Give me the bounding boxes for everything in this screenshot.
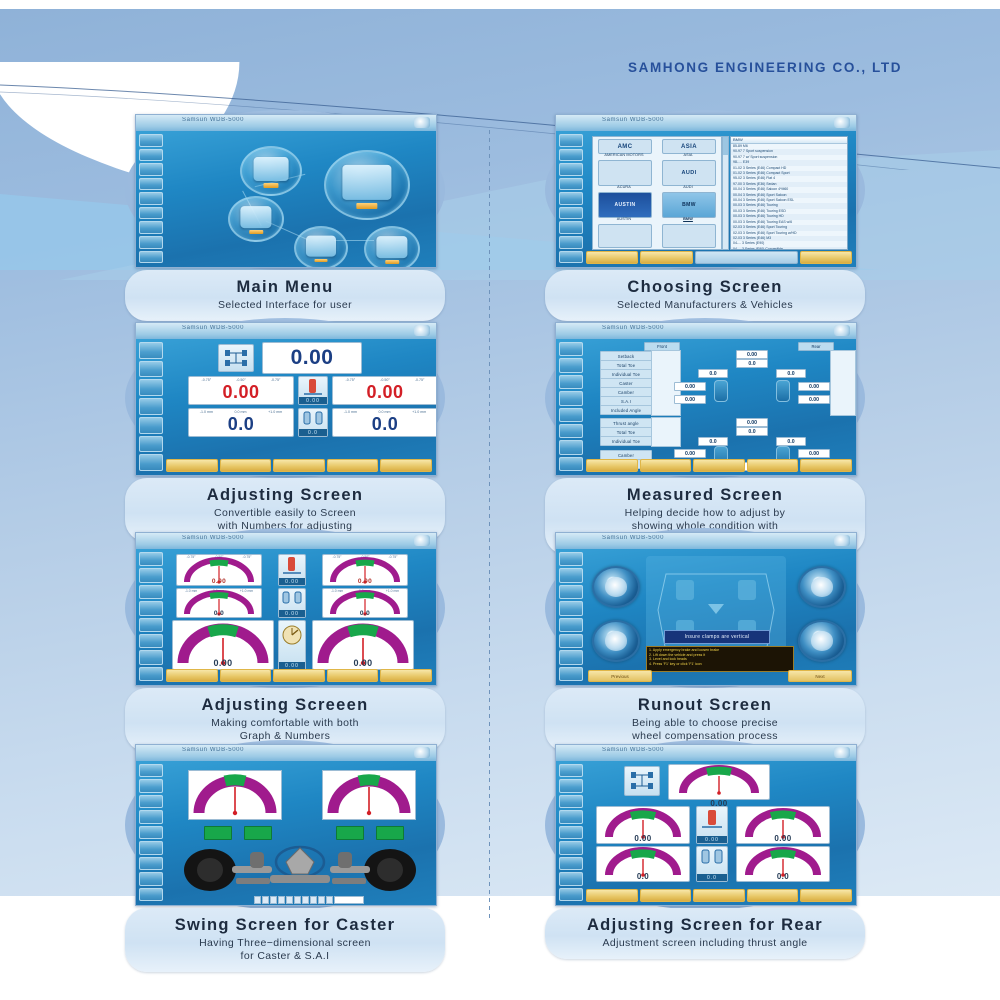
gauge-rear-camber-right: 0.00 bbox=[736, 806, 830, 844]
bottom-toolbar[interactable] bbox=[586, 889, 852, 902]
gauge-thrust-top: 0.00 bbox=[668, 764, 770, 800]
sidebar-button[interactable] bbox=[139, 634, 163, 648]
window-titlebar: Samsun WDB-5000 bbox=[556, 533, 856, 549]
center-value: 0.00 bbox=[299, 397, 327, 404]
camber-icon-tile: 0.00 bbox=[298, 376, 328, 405]
screenshot-main-menu[interactable]: Samsun WDB-5000 bbox=[135, 114, 437, 268]
panel-grid: Samsun WDB-5000 bbox=[0, 0, 1000, 1000]
sidebar-button[interactable] bbox=[139, 667, 163, 681]
caption-subtitle: Selected Manufacturers & Vehicles bbox=[551, 299, 859, 312]
manufacturer-tile-acura[interactable] bbox=[598, 160, 652, 186]
window-title: Samsun WDB-5000 bbox=[602, 747, 664, 753]
status-chip bbox=[336, 826, 364, 840]
caption-subtitle: Adjustment screen including thrust angle bbox=[551, 937, 859, 950]
next-button[interactable]: Next bbox=[788, 670, 852, 682]
center-value: 0.00 bbox=[279, 578, 305, 585]
caption-subtitle: Having Three−dimensional screen for Cast… bbox=[131, 937, 439, 963]
screenshot-runout-screen[interactable]: Samsun WDB-5000 bbox=[555, 532, 857, 686]
sidebar-button[interactable] bbox=[139, 361, 163, 378]
sidebar-toolstrip[interactable] bbox=[139, 764, 163, 901]
value-toe-left: -1.0 mm0.0 mm+1.0 mm 0.0 bbox=[188, 408, 294, 437]
toolbar-button[interactable] bbox=[640, 459, 692, 472]
sidebar-button[interactable] bbox=[559, 826, 583, 839]
bubble-tag-icon bbox=[263, 183, 278, 187]
gauge-arc bbox=[323, 771, 415, 819]
gauge-value: 0.00 bbox=[597, 834, 689, 843]
sidebar-button[interactable] bbox=[139, 221, 163, 234]
toolbar-button[interactable] bbox=[800, 889, 852, 902]
caption-choosing-screen: Choosing Screen Selected Manufacturers &… bbox=[545, 270, 865, 321]
sidebar-button[interactable] bbox=[139, 779, 163, 792]
camber-icon-tile: 0.00 bbox=[696, 806, 728, 844]
tab-rear[interactable]: Rear bbox=[798, 342, 834, 351]
manufacturer-tile-next-a[interactable] bbox=[598, 224, 652, 248]
sidebar-button[interactable] bbox=[559, 207, 583, 220]
screenshot-measured-screen[interactable]: Samsun WDB-5000 Front Rear S bbox=[555, 322, 857, 476]
sidebar-button[interactable] bbox=[139, 436, 163, 453]
gauge-toe-right: -1.0 mm0.0 mm+1.0 mm 0.0 bbox=[322, 588, 408, 618]
sidebar-toolstrip[interactable] bbox=[139, 342, 163, 471]
sidebar-button[interactable] bbox=[139, 207, 163, 220]
manufacturer-tile-bmw[interactable]: BMW bbox=[662, 192, 716, 218]
progress-segments bbox=[254, 896, 364, 904]
window-title: Samsun WDB-5000 bbox=[602, 117, 664, 123]
menu-bubble-vehicle-icon[interactable] bbox=[324, 150, 410, 220]
gauge-caster-right: 0.00 bbox=[312, 620, 414, 670]
value-front-toe-left: 0.0 bbox=[698, 369, 728, 378]
toolbar-button[interactable] bbox=[800, 459, 852, 472]
right-value-column bbox=[830, 350, 856, 416]
screenshot-adjusting-rear[interactable]: Samsun WDB-5000 bbox=[555, 744, 857, 906]
gauge-caster-left: 0.00 bbox=[172, 620, 274, 670]
value-camber-right: -0.75°-0.50°-0.75° 0.00 bbox=[332, 376, 437, 405]
gauge-value: 0.0 bbox=[323, 610, 407, 617]
toolbar-button[interactable] bbox=[380, 669, 432, 682]
gauge-value: 0.00 bbox=[313, 658, 413, 668]
sidebar-button[interactable] bbox=[559, 149, 583, 162]
caption-title: Choosing Screen bbox=[551, 277, 859, 297]
sidebar-button[interactable] bbox=[139, 888, 163, 901]
tick-labels: -1.0 mm0.0 mm+1.0 mm bbox=[189, 410, 293, 414]
sidebar-button[interactable] bbox=[139, 857, 163, 870]
sidebar-button[interactable] bbox=[559, 424, 583, 438]
sidebar-button[interactable] bbox=[559, 650, 583, 664]
screenshot-choosing-screen[interactable]: Samsun WDB-5000 bbox=[555, 114, 857, 268]
manufacturer-tile-austin[interactable]: AUSTIN bbox=[598, 192, 652, 218]
sidebar-button[interactable] bbox=[139, 163, 163, 176]
caption-title: Measured Screen bbox=[551, 485, 859, 505]
graph-canvas: -0.75°-0.50°-0.75° 0.00 bbox=[166, 552, 432, 667]
manufacturer-logo-text: AUDI bbox=[681, 170, 696, 176]
toolbar-button[interactable] bbox=[693, 459, 745, 472]
value-text: 0.0 bbox=[228, 414, 255, 435]
rear-value-column bbox=[651, 417, 681, 447]
vehicle-list-item[interactable]: 04-... 3 Series (E90) Convertible bbox=[731, 247, 847, 250]
adjust-canvas: 0.00 -0.75°-0.50°-0.75° 0.00 0.00 bbox=[166, 342, 432, 457]
label-rear-individual-toe: Individual Toe bbox=[600, 436, 652, 446]
center-value: 0.0 bbox=[697, 874, 727, 881]
sidebar-button[interactable] bbox=[559, 251, 583, 264]
window-titlebar: Samsun WDB-5000 bbox=[136, 745, 436, 761]
menu-bubble-alignment-icon[interactable] bbox=[240, 146, 302, 196]
toe-icon-tile: 0.00 bbox=[278, 588, 306, 618]
window-title: Samsun WDB-5000 bbox=[182, 535, 244, 541]
sidebar-button[interactable] bbox=[139, 585, 163, 599]
menu-bubble-report-icon[interactable] bbox=[364, 226, 420, 268]
sidebar-button[interactable] bbox=[559, 779, 583, 792]
screenshot-swing-screen[interactable]: Samsun WDB-5000 bbox=[135, 744, 437, 906]
sidebar-button[interactable] bbox=[559, 795, 583, 808]
sidebar-button[interactable] bbox=[559, 810, 583, 823]
window-title: Samsun WDB-5000 bbox=[182, 325, 244, 331]
sidebar-toolstrip[interactable] bbox=[139, 134, 163, 263]
app-logo-icon bbox=[414, 747, 430, 758]
app-logo-icon bbox=[834, 325, 850, 336]
wheel-front-right-icon bbox=[776, 380, 790, 402]
sidebar-button[interactable] bbox=[559, 134, 583, 147]
sidebar-button[interactable] bbox=[139, 134, 163, 147]
sidebar-button[interactable] bbox=[139, 379, 163, 396]
value-camber-left: -0.75°-0.50°-0.75° 0.00 bbox=[188, 376, 294, 405]
sidebar-button[interactable] bbox=[559, 552, 583, 566]
toolbar-button[interactable] bbox=[220, 669, 272, 682]
app-logo-icon bbox=[414, 535, 430, 546]
toolbar-button[interactable] bbox=[586, 889, 638, 902]
bubble-glyph-icon bbox=[342, 165, 391, 199]
sidebar-button[interactable] bbox=[139, 650, 163, 664]
value-front-total-toe: 0.0 bbox=[736, 359, 768, 368]
center-value: 0.0 bbox=[299, 429, 327, 436]
sidebar-button[interactable] bbox=[559, 872, 583, 885]
sidebar-button[interactable] bbox=[559, 391, 583, 405]
value-rear-toe-left: 0.0 bbox=[698, 437, 728, 446]
button-previous-wrap[interactable]: Previous bbox=[588, 670, 650, 682]
window-title: Samsun WDB-5000 bbox=[182, 117, 244, 123]
status-chip bbox=[204, 826, 232, 840]
toolbar-button-previous[interactable] bbox=[586, 251, 638, 264]
status-chip bbox=[376, 826, 404, 840]
bubble-tag-icon bbox=[385, 260, 399, 264]
sidebar-button[interactable] bbox=[559, 841, 583, 854]
value-total-top: 0.00 bbox=[262, 342, 362, 374]
status-chip bbox=[244, 826, 272, 840]
app-logo-icon bbox=[414, 325, 430, 336]
sidebar-button[interactable] bbox=[139, 552, 163, 566]
swing-gauge-right bbox=[322, 770, 416, 820]
sidebar-toolstrip[interactable] bbox=[559, 134, 583, 263]
menu-bubble-settings-icon[interactable] bbox=[294, 226, 348, 268]
sidebar-button[interactable] bbox=[559, 457, 583, 471]
gauge-camber-right: -0.75°-0.50°-0.75° 0.00 bbox=[322, 554, 408, 586]
window-titlebar: Samsun WDB-5000 bbox=[556, 745, 856, 761]
wheel-front-left-icon bbox=[714, 380, 728, 402]
bubble-glyph-icon bbox=[376, 236, 407, 258]
window-title: Samsun WDB-5000 bbox=[602, 535, 664, 541]
sidebar-button[interactable] bbox=[139, 236, 163, 249]
vehicle-listbox[interactable]: BMW 85-89 M690-97 7 Sport suspension90-9… bbox=[730, 136, 848, 250]
status-banner: Insure clamps are vertical bbox=[664, 630, 770, 644]
toe-icon-tile: 0.0 bbox=[298, 408, 328, 437]
sidebar-button[interactable] bbox=[139, 568, 163, 582]
label-included-angle: Included Angle bbox=[600, 405, 652, 415]
sidebar-button[interactable] bbox=[559, 178, 583, 191]
suspension-3d-illustration bbox=[174, 842, 426, 894]
brochure-page: SAMHONG ENGINEERING CO., LTD Samsun WDB-… bbox=[0, 0, 1000, 1000]
sidebar-button[interactable] bbox=[559, 236, 583, 249]
center-value: 0.00 bbox=[279, 662, 305, 669]
sidebar-button[interactable] bbox=[559, 618, 583, 632]
sidebar-button[interactable] bbox=[559, 221, 583, 234]
window-titlebar: Samsun WDB-5000 bbox=[136, 323, 436, 339]
gauge-rear-camber-left: 0.00 bbox=[596, 806, 690, 844]
sidebar-button[interactable] bbox=[559, 601, 583, 615]
wheel-rear-right-icon[interactable] bbox=[798, 620, 846, 662]
wheel-front-left-icon[interactable] bbox=[592, 566, 640, 608]
bubble-tag-icon bbox=[249, 230, 263, 234]
sidebar-button[interactable] bbox=[139, 618, 163, 632]
window-titlebar: Samsun WDB-5000 bbox=[556, 323, 856, 339]
toolbar-spacer bbox=[695, 251, 798, 264]
caption-main-menu: Main Menu Selected Interface for user bbox=[125, 270, 445, 321]
value-toe-right: -1.0 mm0.0 mm+1.0 mm 0.0 bbox=[332, 408, 437, 437]
bubble-tag-icon bbox=[356, 203, 377, 209]
previous-button[interactable]: Previous bbox=[588, 670, 652, 682]
manufacturer-scrollbar[interactable] bbox=[722, 136, 729, 250]
value-text: 0.00 bbox=[222, 382, 259, 403]
toolbar-button[interactable] bbox=[327, 459, 379, 472]
sidebar-button[interactable] bbox=[559, 585, 583, 599]
manufacturer-logo-text: AMC bbox=[618, 144, 633, 150]
value-rear-thrust: 0.00 bbox=[736, 418, 768, 427]
value-front-sai-left: 0.00 bbox=[674, 395, 706, 404]
sidebar-button[interactable] bbox=[139, 810, 163, 823]
toolbar-button[interactable] bbox=[273, 669, 325, 682]
tick-labels: -0.75°-0.50°-0.75° bbox=[189, 378, 293, 382]
sidebar-button[interactable] bbox=[559, 163, 583, 176]
sidebar-toolstrip[interactable] bbox=[559, 552, 583, 681]
bottom-toolbar[interactable] bbox=[586, 251, 852, 264]
bottom-toolbar[interactable] bbox=[166, 459, 432, 472]
window-title: Samsun WDB-5000 bbox=[602, 325, 664, 331]
sidebar-button[interactable] bbox=[139, 342, 163, 359]
caption-swing-screen: Swing Screen for Caster Having Three−dim… bbox=[125, 908, 445, 972]
bubble-tag-icon bbox=[315, 259, 328, 263]
tick-labels: -0.75°-0.50°-0.75° bbox=[333, 378, 437, 382]
caption-title: Main Menu bbox=[131, 277, 439, 297]
sidebar-button[interactable] bbox=[139, 417, 163, 434]
caption-title: Runout Screen bbox=[551, 695, 859, 715]
value-rear-total-toe: 0.0 bbox=[736, 427, 768, 436]
center-value: 0.00 bbox=[279, 610, 305, 617]
manufacturer-logo-text: ASIA bbox=[681, 144, 697, 150]
sidebar-button[interactable] bbox=[139, 826, 163, 839]
value-rear-toe-right: 0.0 bbox=[776, 437, 806, 446]
chooser-canvas: AMC AMERICAN MOTORS ASIA ASIA bbox=[586, 134, 852, 263]
sidebar-button[interactable] bbox=[139, 841, 163, 854]
gauge-value: 0.00 bbox=[323, 578, 407, 585]
sidebar-button[interactable] bbox=[139, 795, 163, 808]
toolbar-button[interactable] bbox=[747, 889, 799, 902]
app-logo-icon bbox=[834, 117, 850, 128]
sidebar-button[interactable] bbox=[139, 764, 163, 777]
toolbar-button[interactable] bbox=[693, 889, 745, 902]
value-front-toe-right: 0.0 bbox=[776, 369, 806, 378]
vehicle-list-header: BMW bbox=[731, 137, 847, 144]
sidebar-button[interactable] bbox=[559, 634, 583, 648]
wheel-rear-left-icon[interactable] bbox=[592, 620, 640, 662]
center-value: 0.00 bbox=[697, 836, 727, 843]
sidebar-button[interactable] bbox=[139, 398, 163, 415]
window-title: Samsun WDB-5000 bbox=[182, 747, 244, 753]
value-front-sai-right: 0.00 bbox=[798, 395, 830, 404]
sidebar-toolstrip[interactable] bbox=[559, 764, 583, 901]
sidebar-button[interactable] bbox=[559, 408, 583, 422]
gauge-arc bbox=[669, 765, 769, 799]
sidebar-button[interactable] bbox=[559, 358, 583, 372]
value-front-setback: 0.00 bbox=[736, 350, 768, 359]
toolbar-button[interactable] bbox=[166, 459, 218, 472]
gauge-value: 0.0 bbox=[597, 872, 689, 881]
manufacturer-logo-text: BMW bbox=[682, 202, 696, 208]
caption-adjusting-rear: Adjusting Screen for Rear Adjustment scr… bbox=[545, 908, 865, 959]
gauge-value: 0.00 bbox=[177, 578, 261, 585]
gauge-camber-left: -0.75°-0.50°-0.75° 0.00 bbox=[176, 554, 262, 586]
vehicle-list-rows[interactable]: 85-89 M690-97 7 Sport suspension90-97 7 … bbox=[731, 144, 847, 250]
sidebar-button[interactable] bbox=[559, 568, 583, 582]
toolbar-button[interactable] bbox=[273, 459, 325, 472]
measured-canvas: Front Rear Setback Total Toe Individual … bbox=[586, 342, 852, 457]
value-front-camber-left: 0.00 bbox=[674, 382, 706, 391]
sidebar-button[interactable] bbox=[559, 667, 583, 681]
instruction-line: 4. Press 'F1' key or click 'F1' icon bbox=[649, 662, 791, 667]
caption-subtitle: Selected Interface for user bbox=[131, 299, 439, 312]
bubble-glyph-icon bbox=[254, 157, 289, 181]
sidebar-button[interactable] bbox=[559, 375, 583, 389]
sidebar-button[interactable] bbox=[139, 872, 163, 885]
window-titlebar: Samsun WDB-5000 bbox=[556, 115, 856, 131]
instruction-box: 1. Apply emergency brake and loosen brak… bbox=[646, 646, 794, 672]
toolbar-button[interactable] bbox=[327, 669, 379, 682]
gauge-value: 0.00 bbox=[173, 658, 273, 668]
value-rear-camber-left: 0.00 bbox=[674, 449, 706, 458]
bubble-glyph-icon bbox=[240, 206, 271, 228]
scrollbar-thumb[interactable] bbox=[723, 137, 728, 155]
tick-labels: -1.0 mm0.0 mm+1.0 mm bbox=[333, 410, 437, 414]
sidebar-button[interactable] bbox=[139, 192, 163, 205]
gauge-rear-toe-left: 0.0 bbox=[596, 846, 690, 882]
manufacturer-logo-text: AUSTIN bbox=[614, 202, 635, 208]
window-titlebar: Samsun WDB-5000 bbox=[136, 533, 436, 549]
swing-canvas bbox=[166, 764, 432, 901]
sidebar-button[interactable] bbox=[559, 857, 583, 870]
camber-icon-tile: 0.00 bbox=[278, 554, 306, 586]
sidebar-button[interactable] bbox=[559, 440, 583, 454]
sidebar-button[interactable] bbox=[559, 192, 583, 205]
sidebar-toolstrip[interactable] bbox=[559, 342, 583, 471]
axle-diagram-icon bbox=[218, 344, 254, 372]
toolbar-button[interactable] bbox=[220, 459, 272, 472]
gauge-value: 0.0 bbox=[177, 610, 261, 617]
toolbar-button[interactable] bbox=[747, 459, 799, 472]
caption-title: Adjusting Screeen bbox=[131, 695, 439, 715]
manufacturer-tile-next-b[interactable] bbox=[662, 224, 716, 248]
bubble-glyph-icon bbox=[306, 236, 336, 257]
caption-title: Adjusting Screen for Rear bbox=[551, 915, 859, 935]
main-menu-canvas bbox=[166, 134, 432, 263]
gauge-toe-left: -1.0 mm0.0 mm+1.0 mm 0.0 bbox=[176, 588, 262, 618]
gauge-value: 0.0 bbox=[737, 872, 829, 881]
value-front-camber-right: 0.00 bbox=[798, 382, 830, 391]
toe-icon-tile: 0.0 bbox=[696, 846, 728, 882]
caption-title: Adjusting Screen bbox=[131, 485, 439, 505]
app-logo-icon bbox=[834, 535, 850, 546]
gauge-arc bbox=[189, 771, 281, 819]
screenshot-adjusting-screen[interactable]: Samsun WDB-5000 bbox=[135, 322, 437, 476]
toolbar-button[interactable] bbox=[586, 459, 638, 472]
value-text: 0.0 bbox=[372, 414, 399, 435]
toolbar-button-next[interactable] bbox=[800, 251, 852, 264]
sidebar-button[interactable] bbox=[139, 601, 163, 615]
manufacturer-tile-asia[interactable]: ASIA bbox=[662, 139, 716, 154]
rear-adjust-canvas: 0.00 0.00 bbox=[586, 764, 852, 887]
bottom-toolbar[interactable] bbox=[166, 669, 432, 682]
toolbar-button-default[interactable] bbox=[640, 251, 692, 264]
runout-canvas: Insure clamps are vertical 1. Apply emer… bbox=[586, 552, 852, 669]
window-titlebar: Samsun WDB-5000 bbox=[136, 115, 436, 131]
sidebar-button[interactable] bbox=[139, 454, 163, 471]
swing-gauge-left bbox=[188, 770, 282, 820]
axle-diagram-icon bbox=[624, 766, 660, 796]
button-next-wrap[interactable]: Next bbox=[788, 670, 850, 682]
wheel-front-right-icon[interactable] bbox=[798, 566, 846, 608]
gauge-rear-toe-right: 0.0 bbox=[736, 846, 830, 882]
toolbar-button[interactable] bbox=[380, 459, 432, 472]
sidebar-button[interactable] bbox=[139, 178, 163, 191]
gauge-value: 0.00 bbox=[737, 834, 829, 843]
value-text: 0.00 bbox=[291, 346, 334, 370]
app-logo-icon bbox=[834, 747, 850, 758]
sidebar-toolstrip[interactable] bbox=[139, 552, 163, 681]
value-rear-camber-right: 0.00 bbox=[798, 449, 830, 458]
toolbar-button[interactable] bbox=[166, 669, 218, 682]
sidebar-button[interactable] bbox=[139, 251, 163, 264]
manufacturer-tile-amc[interactable]: AMC bbox=[598, 139, 652, 154]
caster-icon-tile: 0.00 bbox=[278, 620, 306, 670]
value-text: 0.00 bbox=[366, 382, 403, 403]
manufacturer-tile-audi[interactable]: AUDI bbox=[662, 160, 716, 186]
sidebar-button[interactable] bbox=[559, 764, 583, 777]
bottom-toolbar[interactable] bbox=[586, 459, 852, 472]
sidebar-button[interactable] bbox=[139, 149, 163, 162]
sidebar-button[interactable] bbox=[559, 342, 583, 356]
toolbar-button[interactable] bbox=[640, 889, 692, 902]
menu-bubble-database-icon[interactable] bbox=[228, 196, 284, 242]
app-logo-icon bbox=[414, 117, 430, 128]
caption-title: Swing Screen for Caster bbox=[131, 915, 439, 935]
screenshot-adjusting-graph[interactable]: Samsun WDB-5000 -0.75°-0.50°-0.75° bbox=[135, 532, 437, 686]
sidebar-button[interactable] bbox=[559, 888, 583, 901]
